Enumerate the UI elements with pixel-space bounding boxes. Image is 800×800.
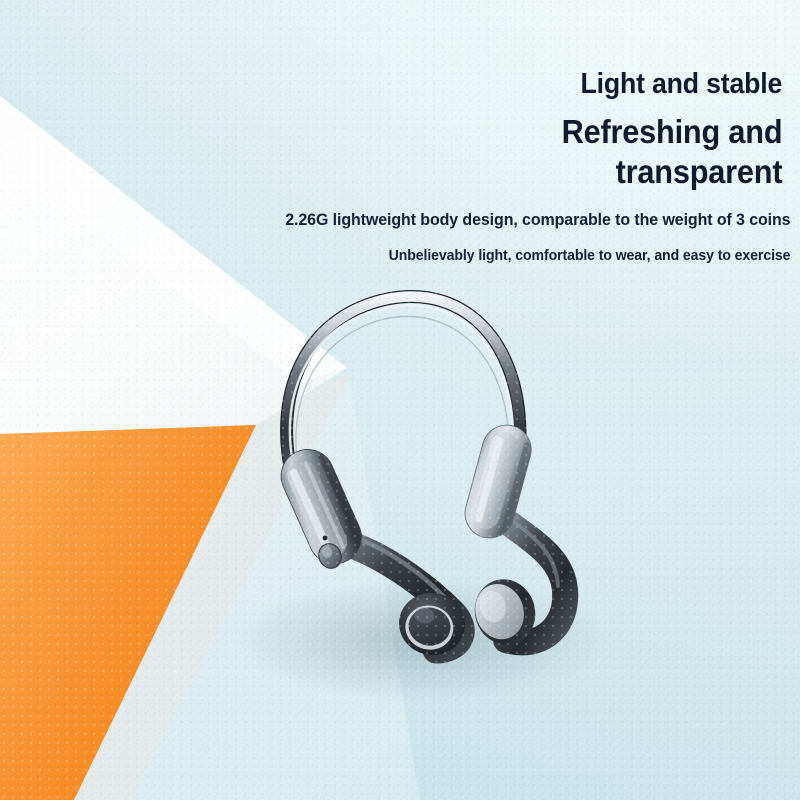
headline-secondary-line-1: Refreshing and (561, 112, 782, 152)
subtitle-comfort-claim: Unbelievably light, comfortable to wear,… (388, 247, 790, 264)
subtitle-weight-claim: 2.26G lightweight body design, comparabl… (285, 210, 790, 230)
headline-primary: Light and stable (580, 68, 782, 101)
headline-secondary-line-2: transparent (561, 152, 782, 192)
product-marketing-poster: Light and stable Refreshing and transpar… (0, 0, 800, 800)
headline-secondary: Refreshing and transparent (561, 112, 782, 193)
marketing-copy-block: Light and stable Refreshing and transpar… (0, 0, 800, 300)
